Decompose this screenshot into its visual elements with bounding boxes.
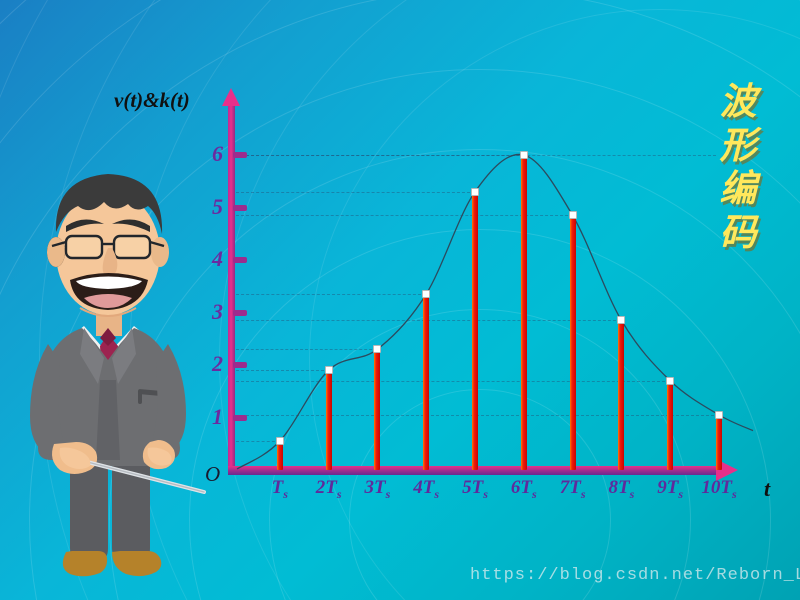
marker-8Ts — [617, 316, 625, 324]
marker-5Ts — [471, 188, 479, 196]
bar-10Ts — [716, 415, 722, 470]
marker-4Ts — [422, 290, 430, 298]
stem-chart: v(t)&k(t) t O 123456 Ts2Ts3Ts4Ts5Ts6Ts7T… — [0, 0, 800, 600]
waveform-curve — [0, 0, 800, 600]
bar-5Ts — [472, 192, 478, 470]
bar-3Ts — [374, 349, 380, 470]
bar-7Ts — [570, 215, 576, 470]
bar-6Ts — [521, 155, 527, 470]
slide-canvas: v(t)&k(t) t O 123456 Ts2Ts3Ts4Ts5Ts6Ts7T… — [0, 0, 800, 600]
bar-Ts — [277, 441, 283, 470]
bar-4Ts — [423, 294, 429, 470]
bar-2Ts — [326, 370, 332, 470]
marker-6Ts — [520, 151, 528, 159]
marker-Ts — [276, 437, 284, 445]
title-char-2: 编 — [708, 167, 768, 211]
slide-title: 波形编码 — [708, 80, 768, 255]
waveform-path — [237, 154, 753, 469]
marker-3Ts — [373, 345, 381, 353]
marker-9Ts — [666, 377, 674, 385]
bar-8Ts — [618, 320, 624, 470]
title-char-0: 波 — [708, 80, 768, 124]
title-char-1: 形 — [708, 124, 768, 168]
bar-9Ts — [667, 381, 673, 470]
marker-10Ts — [715, 411, 723, 419]
marker-7Ts — [569, 211, 577, 219]
watermark-text: https://blog.csdn.net/Reborn_Lee — [470, 566, 800, 585]
marker-2Ts — [325, 366, 333, 374]
title-char-3: 码 — [708, 211, 768, 255]
